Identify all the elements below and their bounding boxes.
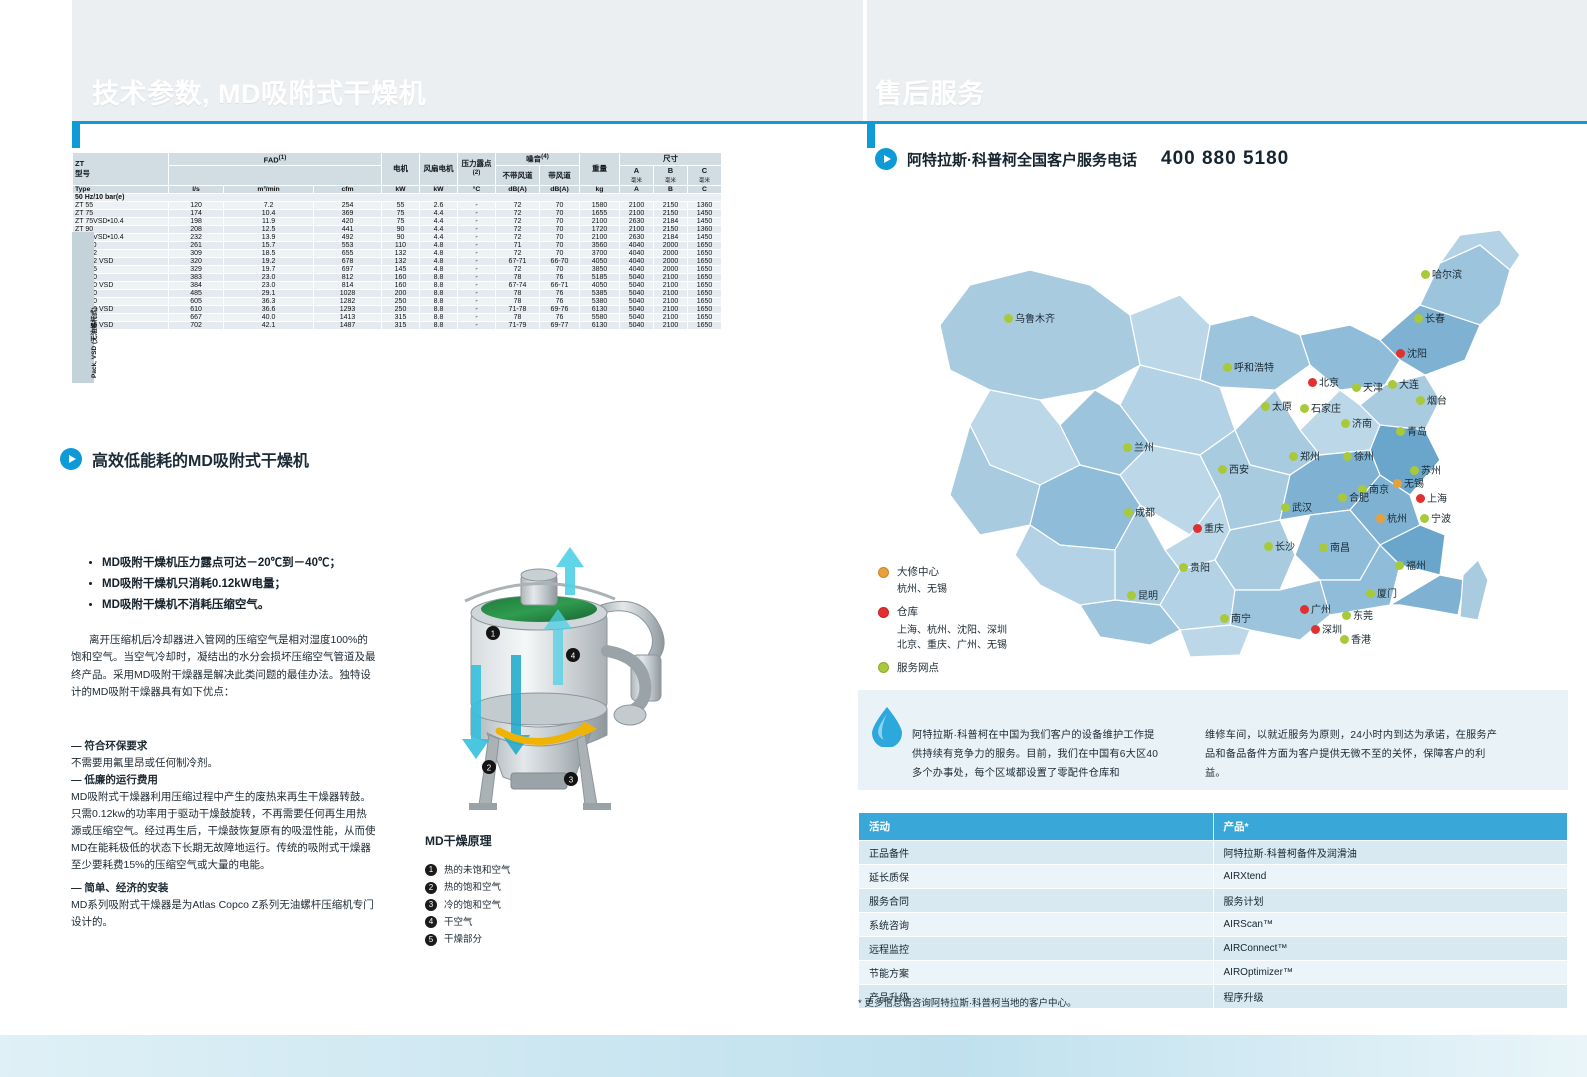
spec-cell: 70 [540, 217, 580, 225]
map-city-label: 宁波 [1431, 510, 1451, 525]
map-pin-福州 [1395, 561, 1404, 570]
svg-text:1: 1 [491, 630, 496, 639]
spec-cell: 4.8 [420, 249, 458, 257]
spec-cell: 66-70 [540, 257, 580, 265]
section-heading-md-dryer-label: 高效低能耗的MD吸附式干燥机 [92, 447, 309, 471]
table-row: ZT 7517410.4369754.4-7270165521002150145… [73, 209, 722, 217]
map-city-label: 长沙 [1275, 538, 1295, 553]
spec-cell: 5040 [620, 289, 654, 297]
map-pin-杭州 [1376, 514, 1385, 523]
spec-cell: 78 [496, 289, 540, 297]
spec-cell: 70 [540, 201, 580, 209]
spec-table-side-label: Pack, VSD (无油螺杆式) [72, 232, 94, 383]
table-row: ZT 14532919.76971454.8-72703850404020001… [73, 265, 722, 273]
service-col-product: 产品* [1213, 813, 1568, 841]
spec-cell: 6130 [580, 321, 620, 329]
spec-cell: 2100 [654, 305, 688, 313]
map-city-label: 深圳 [1322, 621, 1342, 636]
legend-number-1: 1 [425, 864, 437, 876]
list-item: 5干燥部分 [425, 931, 511, 948]
legend-row-overhaul: 大修中心 [878, 564, 1007, 580]
spec-cell: 2100 [654, 313, 688, 321]
spec-cell: 72 [496, 201, 540, 209]
subsection-install-head: 简单、经济的安装 [71, 880, 376, 897]
spec-cell: 4040 [620, 241, 654, 249]
table-row: 延长质保AIRXtend [859, 865, 1568, 889]
spec-cell: 1360 [688, 201, 722, 209]
spec-cell: 8.8 [420, 281, 458, 289]
map-city-label: 长春 [1425, 310, 1445, 325]
service-cell: 阿特拉斯·科普柯备件及润滑油 [1213, 841, 1568, 865]
spec-cell: 66-71 [540, 281, 580, 289]
legend-number-4: 4 [425, 916, 437, 928]
col-header-noise-duct: 带风道 [540, 165, 580, 185]
service-phone-label: 阿特拉斯·科普柯全国客户服务电话 [907, 149, 1137, 170]
spec-cell: 11.9 [224, 217, 314, 225]
spec-cell: - [458, 289, 496, 297]
legend-label-2: 热的饱和空气 [444, 882, 501, 893]
list-item: 3冷的饱和空气 [425, 897, 511, 914]
spec-cell: 145 [382, 265, 420, 273]
spec-cell: 36.3 [224, 297, 314, 305]
service-phone-heading: 阿特拉斯·科普柯全国客户服务电话 400 880 5180 [875, 148, 1289, 170]
spec-cell: 15.7 [224, 241, 314, 249]
spec-cell: 2100 [620, 201, 654, 209]
col-header-dims: 尺寸 [620, 153, 722, 166]
spec-cell: 254 [314, 201, 382, 209]
spec-cell: 4.4 [420, 225, 458, 233]
map-city-label: 济南 [1352, 415, 1372, 430]
spec-cell: 2100 [654, 321, 688, 329]
spec-cell: 23.0 [224, 281, 314, 289]
table-row: ZT 20048529.110282008.8-7876538550402100… [73, 289, 722, 297]
spec-cell: 420 [314, 217, 382, 225]
spec-cell: - [458, 249, 496, 257]
spec-cell: 5040 [620, 273, 654, 281]
map-pin-天津 [1352, 383, 1361, 392]
spec-cell: 1650 [688, 305, 722, 313]
spec-cell: 5185 [580, 273, 620, 281]
spec-model: ZT 75 [73, 209, 169, 217]
spec-cell: 320 [169, 257, 224, 265]
spec-cell: 2100 [620, 209, 654, 217]
legend-label-warehouse: 仓库 [897, 604, 918, 620]
map-pin-呼和浩特 [1223, 363, 1232, 372]
spec-cell: 678 [314, 257, 382, 265]
md-dryer-illustration: 1 4 2 3 [425, 535, 695, 820]
spec-cell: 7.2 [224, 201, 314, 209]
page-title-right: 售后服务 [875, 72, 985, 111]
col-header-model: ZT 型号 [73, 153, 169, 186]
map-pin-西安 [1218, 465, 1227, 474]
subsection-install: 简单、经济的安装 MD系列吸附式干燥器是为Atlas Copco Z系列无油螺杆… [71, 880, 376, 931]
spec-cell: 71 [496, 241, 540, 249]
spec-cell: - [458, 281, 496, 289]
spec-cell: 5040 [620, 313, 654, 321]
map-pin-哈尔滨 [1421, 270, 1430, 279]
spec-cell: 2630 [620, 233, 654, 241]
spec-cell: 174 [169, 209, 224, 217]
play-arrow-icon [875, 148, 897, 170]
spec-cell: 1580 [580, 201, 620, 209]
spec-cell: - [458, 233, 496, 241]
service-cell: AIRConnect™ [1213, 937, 1568, 961]
spec-cell: 72 [496, 233, 540, 241]
spec-cell: - [458, 257, 496, 265]
spec-cell: - [458, 321, 496, 329]
subsection-install-body: MD系列吸附式干燥器是为Atlas Copco Z系列无油螺杆压缩机专门设计的。 [71, 897, 376, 931]
spec-cell: 55 [382, 201, 420, 209]
spec-cell: 2184 [654, 217, 688, 225]
service-table-head: 活动 产品* [859, 813, 1568, 841]
spec-cell: 71-78 [496, 305, 540, 313]
spec-cell: 261 [169, 241, 224, 249]
map-city-label: 上海 [1427, 490, 1447, 505]
map-city-label: 成都 [1135, 504, 1155, 519]
service-table-body: 正品备件阿特拉斯·科普柯备件及润滑油延长质保AIRXtend服务合同服务计划系统… [859, 841, 1568, 1009]
map-pin-南昌 [1319, 543, 1328, 552]
spec-cell: 2150 [654, 225, 688, 233]
col-header-fan: 风扇电机 [420, 153, 458, 186]
spec-cell: 67-71 [496, 257, 540, 265]
spec-cell: 667 [169, 313, 224, 321]
spec-cell: 42.1 [224, 321, 314, 329]
map-city-label: 郑州 [1300, 448, 1320, 463]
spec-cell: 8.8 [420, 273, 458, 281]
spec-cell: 75 [382, 209, 420, 217]
spec-cell: 232 [169, 233, 224, 241]
table-row: 远程监控AIRConnect™ [859, 937, 1568, 961]
col-header-noise-nod: 不带风道 [496, 165, 540, 185]
left-gutter [0, 0, 72, 1035]
spec-cell: 4040 [620, 265, 654, 273]
spec-cell: 19.7 [224, 265, 314, 273]
spec-cell: 5040 [620, 305, 654, 313]
spec-cell: 1720 [580, 225, 620, 233]
list-item: MD吸附干燥机不消耗压缩空气。 [102, 595, 418, 615]
spec-cell: - [458, 217, 496, 225]
map-city-label: 合肥 [1349, 489, 1369, 504]
feature-bullets: MD吸附干燥机压力露点可达－20℃到－40℃； MD吸附干燥机只消耗0.12kW… [88, 553, 418, 616]
map-pin-南宁 [1220, 614, 1229, 623]
spec-cell: - [458, 201, 496, 209]
col-header-motor: 电机 [382, 153, 420, 186]
svg-text:2: 2 [487, 764, 492, 773]
service-cell: 服务计划 [1213, 889, 1568, 913]
spec-cell: 1360 [688, 225, 722, 233]
table-row: ZT 75VSD•10.419811.9420754.4-72702100263… [73, 217, 722, 225]
map-city-label: 乌鲁木齐 [1015, 310, 1055, 325]
map-pin-太原 [1261, 402, 1270, 411]
legend-label-3: 冷的饱和空气 [444, 900, 501, 911]
spec-frequency-row: 50 Hz/10 bar(e) [73, 193, 722, 201]
spec-cell: 2100 [580, 233, 620, 241]
col-header-fad-spacer [169, 165, 382, 185]
map-city-label: 武汉 [1292, 499, 1312, 514]
spec-cell: 90 [382, 233, 420, 241]
spec-cell: 3850 [580, 265, 620, 273]
spec-cell: 2000 [654, 241, 688, 249]
unit-9: A [620, 185, 654, 193]
spec-cell: 5040 [620, 281, 654, 289]
spec-cell: 2630 [620, 217, 654, 225]
col-header-dim-c: C毫米 [688, 165, 722, 185]
map-city-label: 重庆 [1204, 520, 1224, 535]
legend-sub-warehouse: 上海、杭州、沈阳、深圳 北京、重庆、广州、无锡 [897, 623, 1007, 653]
spec-cell: 812 [314, 273, 382, 281]
spec-cell: 5385 [580, 289, 620, 297]
col-header-dim-b: B毫米 [654, 165, 688, 185]
subsection-cost: 低廉的运行费用 MD吸附式干燥器利用压缩过程中产生的废热来再生干燥器转鼓。只需0… [71, 772, 376, 874]
service-point-dot-icon [878, 662, 889, 673]
spec-cell: 72 [496, 265, 540, 273]
legend-number-5: 5 [425, 934, 437, 946]
map-pin-东莞 [1342, 611, 1351, 620]
spec-cell: 553 [314, 241, 382, 249]
intro-paragraph: 离开压缩机后冷却器进入管网的压缩空气是相对湿度100%的饱和空气。当空气冷却时，… [71, 632, 376, 701]
spec-cell: 1293 [314, 305, 382, 313]
map-city-label: 广州 [1311, 601, 1331, 616]
map-city-label: 南京 [1369, 481, 1389, 496]
spec-cell: 23.0 [224, 273, 314, 281]
list-item: 2热的饱和空气 [425, 879, 511, 896]
unit-6: dB(A) [496, 185, 540, 193]
spec-cell: 1650 [688, 281, 722, 289]
map-pin-郑州 [1289, 452, 1298, 461]
spec-cell: 160 [382, 281, 420, 289]
spec-cell: 4.4 [420, 233, 458, 241]
service-description-right: 维修车间，以就近服务为原则，24小时内到达为承诺，在服务产品和备品备件方面为客户… [1205, 727, 1505, 784]
map-pin-长沙 [1264, 542, 1273, 551]
col-header-dim-a: A毫米 [620, 165, 654, 185]
spec-cell: 200 [382, 289, 420, 297]
spec-cell: 36.6 [224, 305, 314, 313]
map-city-label: 贵阳 [1190, 559, 1210, 574]
map-pin-重庆 [1193, 524, 1202, 533]
list-item: MD吸附干燥机只消耗0.12kW电量； [102, 574, 418, 594]
subsection-cost-head: 低廉的运行费用 [71, 772, 376, 789]
spec-cell: 814 [314, 281, 382, 289]
spec-head-row-1: ZT 型号 FAD(1) 电机 风扇电机 压力露点(2) 噪音(4) 重量 [73, 153, 722, 166]
spec-model: ZT 55 [73, 201, 169, 209]
spec-cell: 208 [169, 225, 224, 233]
spec-cell: 78 [496, 313, 540, 321]
section-heading-md-dryer: 高效低能耗的MD吸附式干燥机 [60, 447, 309, 471]
feature-bullet-list: MD吸附干燥机压力露点可达－20℃到－40℃； MD吸附干燥机只消耗0.12kW… [88, 553, 418, 615]
table-row: ZT 16038323.08121608.8-78765185504021001… [73, 273, 722, 281]
spec-cell: 1650 [688, 289, 722, 297]
spec-cell: 2100 [654, 297, 688, 305]
spec-cell: 3560 [580, 241, 620, 249]
map-pin-无锡 [1393, 479, 1402, 488]
map-pin-昆明 [1127, 591, 1136, 600]
map-pin-成都 [1124, 508, 1133, 517]
map-city-label: 苏州 [1421, 462, 1441, 477]
md-dryer-svg: 1 4 2 3 [425, 535, 695, 820]
service-col-activity: 活动 [859, 813, 1214, 841]
header-rule-right [867, 121, 1587, 124]
legend-label-5: 干燥部分 [444, 934, 482, 945]
spec-cell: 4050 [580, 281, 620, 289]
legend-label-4: 干空气 [444, 917, 473, 928]
spec-cell: 329 [169, 265, 224, 273]
map-pin-香港 [1340, 635, 1349, 644]
spec-table-wrapper: ZT 型号 FAD(1) 电机 风扇电机 压力露点(2) 噪音(4) 重量 [72, 152, 722, 330]
unit-0: l/s [169, 185, 224, 193]
map-pin-宁波 [1420, 514, 1429, 523]
map-pin-乌鲁木齐 [1004, 314, 1013, 323]
spec-cell: 18.5 [224, 249, 314, 257]
spec-cell: 4050 [580, 257, 620, 265]
map-pin-北京 [1308, 378, 1317, 387]
spec-cell: 75 [382, 217, 420, 225]
map-pin-烟台 [1416, 396, 1425, 405]
spec-table-side-label-text: Pack, VSD (无油螺杆式) [88, 307, 98, 378]
unit-7: dB(A) [540, 185, 580, 193]
spec-cell: 8.8 [420, 297, 458, 305]
map-city-label: 无锡 [1404, 475, 1424, 490]
service-cell: 正品备件 [859, 841, 1214, 865]
spec-cell: 1650 [688, 265, 722, 273]
map-city-label: 福州 [1406, 557, 1426, 572]
map-city-label: 香港 [1351, 631, 1371, 646]
spec-cell: 250 [382, 305, 420, 313]
spec-cell: 1028 [314, 289, 382, 297]
spec-cell: 2100 [654, 281, 688, 289]
table-row: ZT 25060536.312822508.8-7876538050402100… [73, 297, 722, 305]
map-pin-武汉 [1281, 503, 1290, 512]
spec-cell: 383 [169, 273, 224, 281]
map-city-label: 呼和浩特 [1234, 359, 1274, 374]
spec-cell: 2150 [654, 201, 688, 209]
header-tick-left [72, 124, 80, 148]
svg-text:4: 4 [571, 652, 576, 661]
spec-cell: 76 [540, 289, 580, 297]
legend-label-service: 服务网点 [897, 660, 939, 676]
list-item: 1热的未饱和空气 [425, 862, 511, 879]
spec-cell: 4.8 [420, 241, 458, 249]
spec-cell: 1650 [688, 313, 722, 321]
spec-cell: 2000 [654, 265, 688, 273]
warehouse-dot-icon [878, 607, 889, 618]
subsection-environment-body: 不需要用氟里昂或任何制冷剂。 [71, 755, 376, 772]
page-title-left: 技术参数, MD吸附式干燥机 [92, 72, 426, 111]
spec-cell: 485 [169, 289, 224, 297]
spec-cell: 72 [496, 217, 540, 225]
spec-cell: 315 [382, 321, 420, 329]
table-row: ZT 27566740.014133158.8-7876558050402100… [73, 313, 722, 321]
spec-cell: 605 [169, 297, 224, 305]
legend-number-2: 2 [425, 882, 437, 894]
spec-cell: 76 [540, 313, 580, 321]
map-city-label: 青岛 [1407, 423, 1427, 438]
spec-cell: 72 [496, 209, 540, 217]
spec-table: ZT 型号 FAD(1) 电机 风扇电机 压力露点(2) 噪音(4) 重量 [72, 152, 722, 330]
map-city-label: 南昌 [1330, 539, 1350, 554]
unit-type: Type [73, 185, 169, 193]
map-pin-上海 [1416, 494, 1425, 503]
unit-4: kW [420, 185, 458, 193]
bottom-band [0, 1035, 1587, 1077]
legend-label-1: 热的未饱和空气 [444, 865, 511, 876]
service-phone-number: 400 880 5180 [1161, 148, 1289, 170]
map-pin-石家庄 [1300, 404, 1309, 413]
table-row: 正品备件阿特拉斯·科普柯备件及润滑油 [859, 841, 1568, 865]
spec-cell: 315 [382, 313, 420, 321]
spec-cell: - [458, 241, 496, 249]
spec-cell: 702 [169, 321, 224, 329]
map-pin-深圳 [1311, 625, 1320, 634]
map-city-label: 杭州 [1387, 510, 1407, 525]
spec-cell: 2.6 [420, 201, 458, 209]
play-arrow-icon [60, 448, 82, 470]
map-city-label: 西安 [1229, 461, 1249, 476]
spec-cell: 19.2 [224, 257, 314, 265]
spec-cell: 1650 [688, 321, 722, 329]
map-pin-沈阳 [1396, 349, 1405, 358]
map-pin-贵阳 [1179, 563, 1188, 572]
map-city-label: 东莞 [1353, 607, 1373, 622]
spec-cell: 5380 [580, 297, 620, 305]
service-cell: AIRXtend [1213, 865, 1568, 889]
map-pin-苏州 [1410, 466, 1419, 475]
spec-cell: 3700 [580, 249, 620, 257]
spec-cell: 2000 [654, 249, 688, 257]
overhaul-center-dot-icon [878, 567, 889, 578]
service-table-footnote: * 更多信息请咨询阿特拉斯·科普柯当地的客户中心。 [858, 995, 1077, 1009]
spec-cell: 309 [169, 249, 224, 257]
water-drop-icon [870, 705, 904, 745]
table-row: ZT 315 VSD70242.114873158.8-71-7969-7761… [73, 321, 722, 329]
spec-cell: 4.4 [420, 209, 458, 217]
spec-cell: 492 [314, 233, 382, 241]
spec-cell: 78 [496, 273, 540, 281]
spec-cell: 1650 [688, 297, 722, 305]
spec-cell: 1450 [688, 209, 722, 217]
spec-cell: 198 [169, 217, 224, 225]
unit-11: C [688, 185, 722, 193]
spec-cell: - [458, 273, 496, 281]
spec-cell: 67-74 [496, 281, 540, 289]
spec-cell: 70 [540, 241, 580, 249]
unit-2: cfm [314, 185, 382, 193]
spec-cell: 4040 [620, 249, 654, 257]
svg-text:3: 3 [569, 776, 574, 785]
diagram-legend: 1热的未饱和空气 2热的饱和空气 3冷的饱和空气 4干空气 5干燥部分 [425, 862, 511, 948]
map-city-label: 北京 [1319, 374, 1339, 389]
spec-cell: 69-77 [540, 321, 580, 329]
spec-cell: 8.8 [420, 289, 458, 297]
unit-5: °C [458, 185, 496, 193]
subsection-cost-body: MD吸附式干燥器利用压缩过程中产生的废热来再生干燥器转鼓。只需0.12kw的功率… [71, 789, 376, 874]
col-header-weight: 重量 [580, 153, 620, 186]
subsection-environment: 符合环保要求 不需要用氟里昂或任何制冷剂。 [71, 738, 376, 772]
col-header-model-cn: 型号 [75, 168, 166, 179]
spec-cell: 29.1 [224, 289, 314, 297]
brochure-page: 技术参数, MD吸附式干燥机 售后服务 ZT 型号 FAD(1) 电机 风扇电机… [0, 0, 1587, 1077]
spec-cell: 72 [496, 225, 540, 233]
map-pin-合肥 [1338, 493, 1347, 502]
spec-cell: 1450 [688, 233, 722, 241]
legend-row-service: 服务网点 [878, 660, 1007, 676]
map-pin-济南 [1341, 419, 1350, 428]
spec-cell: 2150 [654, 209, 688, 217]
map-city-label: 太原 [1272, 398, 1292, 413]
legend-sub-overhaul: 杭州、无锡 [897, 582, 1007, 597]
service-cell: 延长质保 [859, 865, 1214, 889]
spec-cell: 1655 [580, 209, 620, 217]
map-city-label: 昆明 [1138, 587, 1158, 602]
